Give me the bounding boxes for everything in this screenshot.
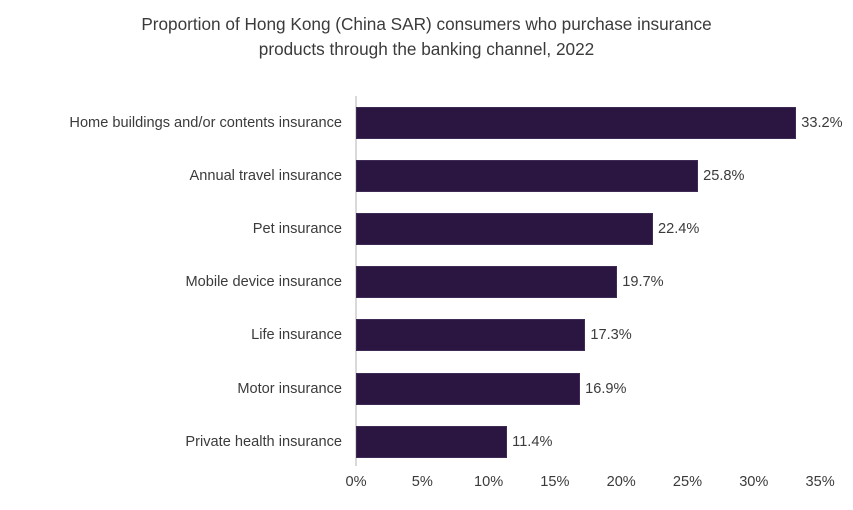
category-label: Motor insurance [0, 362, 342, 415]
bar[interactable] [356, 373, 580, 405]
x-tick-label: 0% [321, 474, 391, 490]
bar-and-value: 19.7% [356, 256, 664, 309]
bar[interactable] [356, 426, 507, 458]
bar-row: Motor insurance16.9% [0, 362, 853, 415]
bar-value-label: 22.4% [658, 221, 699, 237]
category-label: Pet insurance [0, 202, 342, 255]
bar-row: Annual travel insurance25.8% [0, 149, 853, 202]
bar-and-value: 16.9% [356, 362, 626, 415]
x-tick-label: 25% [653, 474, 723, 490]
category-label: Private health insurance [0, 415, 342, 468]
category-label: Home buildings and/or contents insurance [0, 96, 342, 149]
bar[interactable] [356, 213, 653, 245]
bar[interactable] [356, 266, 617, 298]
bar-value-label: 19.7% [622, 274, 663, 290]
bar-value-label: 11.4% [512, 434, 552, 450]
bar[interactable] [356, 319, 585, 351]
x-tick-label: 10% [454, 474, 524, 490]
bar[interactable] [356, 160, 698, 192]
bar-value-label: 16.9% [585, 381, 626, 397]
bar-and-value: 33.2% [356, 96, 843, 149]
bar-and-value: 11.4% [356, 415, 552, 468]
category-label: Annual travel insurance [0, 149, 342, 202]
bar-row: Life insurance17.3% [0, 309, 853, 362]
bar-value-label: 33.2% [801, 115, 842, 131]
bar-value-label: 25.8% [703, 168, 744, 184]
bar-chart: Proportion of Hong Kong (China SAR) cons… [0, 0, 853, 510]
bar-row: Mobile device insurance19.7% [0, 256, 853, 309]
bar-and-value: 17.3% [356, 309, 632, 362]
category-label: Mobile device insurance [0, 256, 342, 309]
bar-row: Home buildings and/or contents insurance… [0, 96, 853, 149]
x-tick-label: 5% [387, 474, 457, 490]
x-tick-label: 30% [719, 474, 789, 490]
bar-row: Pet insurance22.4% [0, 202, 853, 255]
plot-area: Home buildings and/or contents insurance… [0, 0, 853, 510]
x-tick-label: 20% [586, 474, 656, 490]
bar-row: Private health insurance11.4% [0, 415, 853, 468]
bar-and-value: 22.4% [356, 202, 699, 255]
x-tick-label: 35% [785, 474, 853, 490]
category-label: Life insurance [0, 309, 342, 362]
bar-value-label: 17.3% [590, 327, 631, 343]
x-tick-label: 15% [520, 474, 590, 490]
bar[interactable] [356, 107, 796, 139]
bar-and-value: 25.8% [356, 149, 744, 202]
